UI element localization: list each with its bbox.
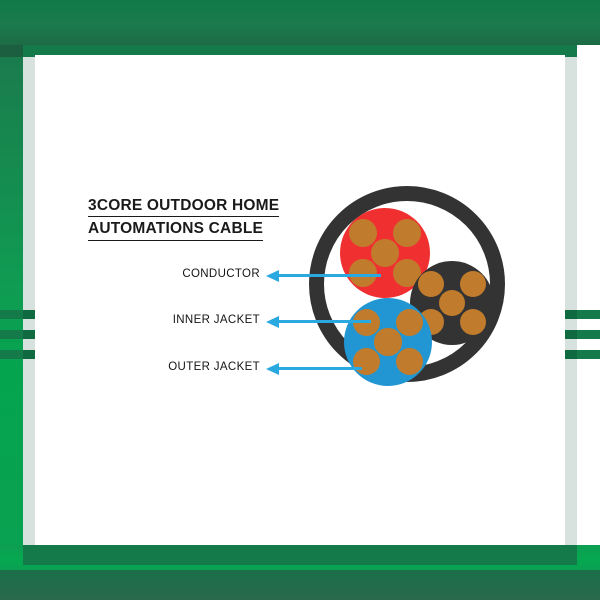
copper-strand bbox=[439, 290, 465, 316]
page-title: 3CORE OUTDOOR HOME AUTOMATIONS CABLE bbox=[88, 196, 328, 241]
accent-bar-left-2b bbox=[23, 330, 35, 339]
accent-stripe-right bbox=[565, 57, 577, 545]
copper-strand bbox=[374, 328, 401, 355]
arrow-shaft bbox=[278, 367, 362, 370]
callout-arrow-inner-jacket bbox=[266, 316, 371, 328]
callout-arrow-outer-jacket bbox=[266, 363, 362, 375]
copper-strand bbox=[396, 348, 423, 375]
copper-strand bbox=[393, 219, 421, 247]
accent-bar-left-1b bbox=[23, 310, 35, 319]
background-top-band bbox=[0, 0, 600, 45]
accent-bar-left-3b bbox=[23, 350, 35, 359]
accent-bar-right-2b bbox=[565, 330, 577, 339]
background-bottom-band bbox=[0, 570, 600, 600]
copper-strand bbox=[371, 239, 399, 267]
arrow-shaft bbox=[278, 320, 371, 323]
callout-arrow-conductor bbox=[266, 270, 381, 282]
accent-bar-right-1b bbox=[565, 310, 577, 319]
copper-strand bbox=[396, 309, 423, 336]
poster-canvas: 3CORE OUTDOOR HOME AUTOMATIONS CABLE bbox=[0, 0, 600, 600]
cable-cross-section bbox=[309, 186, 505, 382]
title-line-2: AUTOMATIONS CABLE bbox=[88, 219, 263, 240]
accent-stripe-left bbox=[23, 57, 35, 545]
copper-strand bbox=[349, 219, 377, 247]
copper-strand bbox=[418, 271, 444, 297]
title-line-1: 3CORE OUTDOOR HOME bbox=[88, 196, 279, 217]
copper-strand bbox=[460, 271, 486, 297]
callout-label-outer-jacket: OUTER JACKET bbox=[80, 361, 260, 373]
arrow-shaft bbox=[278, 274, 381, 277]
callout-label-inner-jacket: INNER JACKET bbox=[80, 314, 260, 326]
copper-strand bbox=[460, 309, 486, 335]
accent-bar-right-3b bbox=[565, 350, 577, 359]
background-right-band bbox=[577, 45, 600, 570]
callout-label-conductor: CONDUCTOR bbox=[80, 268, 260, 280]
